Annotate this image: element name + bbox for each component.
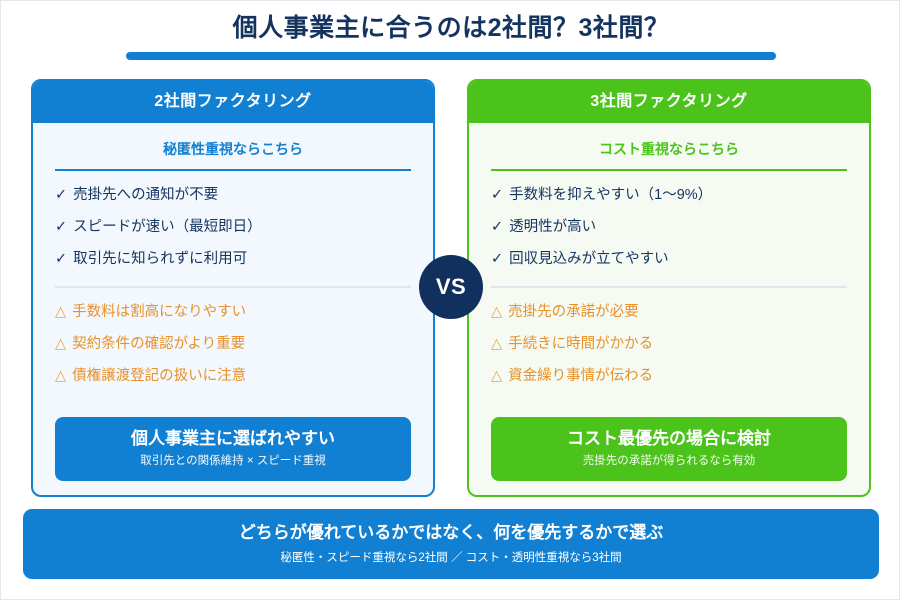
- conclusion-subtitle: 取引先との関係維持 × スピード重視: [65, 454, 401, 469]
- caution-triangle-icon: △: [55, 334, 66, 355]
- card-subtitle-three-party: コスト重視ならこちら: [491, 139, 847, 169]
- card-heading-three-party: 3社間ファクタリング: [469, 81, 869, 123]
- list-item-label: 売掛先の承諾が必要: [508, 302, 639, 323]
- list-item-label: 手続きに時間がかかる: [508, 334, 653, 355]
- list-item-label: 手数料を抑えやすい（1〜9%）: [509, 185, 712, 206]
- summary-subtitle: 秘匿性・スピード重視なら2社間 ／ コスト・透明性重視なら3社間: [23, 551, 879, 566]
- check-icon: ✓: [55, 185, 67, 206]
- cons-list-three-party: △ 売掛先の承諾が必要 △ 手続きに時間がかかる △ 資金繰り事情が伝わる: [491, 302, 847, 398]
- list-item-label: 資金繰り事情が伝わる: [508, 366, 653, 387]
- list-item: △ 手数料は割高になりやすい: [55, 302, 411, 323]
- list-item-label: 契約条件の確認がより重要: [72, 334, 245, 355]
- pros-cons-divider: [491, 286, 847, 288]
- check-icon: ✓: [491, 217, 503, 238]
- list-item-label: 取引先に知られずに利用可: [73, 249, 247, 270]
- list-item: △ 資金繰り事情が伝わる: [491, 366, 847, 387]
- vs-badge: VS: [419, 255, 483, 319]
- list-item: △ 債権譲渡登記の扱いに注意: [55, 366, 411, 387]
- summary-banner: どちらが優れているかではなく、何を優先するかで選ぶ 秘匿性・スピード重視なら2社…: [23, 509, 879, 579]
- caution-triangle-icon: △: [491, 366, 502, 387]
- card-heading-two-party: 2社間ファクタリング: [33, 81, 433, 123]
- list-item-label: 回収見込みが立てやすい: [509, 249, 669, 270]
- list-item: △ 契約条件の確認がより重要: [55, 334, 411, 355]
- conclusion-box-two-party: 個人事業主に選ばれやすい 取引先との関係維持 × スピード重視: [55, 417, 411, 481]
- title-underline: [126, 52, 776, 60]
- conclusion-box-three-party: コスト最優先の場合に検討 売掛先の承諾が得られるなら有効: [491, 417, 847, 481]
- list-item-label: スピードが速い（最短即日）: [73, 217, 262, 238]
- pros-cons-divider: [55, 286, 411, 288]
- page-header: 個人事業主に合うのは2社間？3社間？: [1, 13, 900, 60]
- caution-triangle-icon: △: [491, 302, 502, 323]
- pros-list-three-party: ✓ 手数料を抑えやすい（1〜9%） ✓ 透明性が高い ✓ 回収見込みが立てやすい: [491, 185, 847, 281]
- subtitle-divider: [55, 169, 411, 171]
- pros-list-two-party: ✓ 売掛先への通知が不要 ✓ スピードが速い（最短即日） ✓ 取引先に知られずに…: [55, 185, 411, 281]
- list-item: △ 手続きに時間がかかる: [491, 334, 847, 355]
- subtitle-divider: [491, 169, 847, 171]
- list-item-label: 透明性が高い: [509, 217, 596, 238]
- page-title: 個人事業主に合うのは2社間？3社間？: [1, 13, 900, 43]
- caution-triangle-icon: △: [55, 302, 66, 323]
- list-item: △ 売掛先の承諾が必要: [491, 302, 847, 323]
- summary-title: どちらが優れているかではなく、何を優先するかで選ぶ: [23, 522, 879, 544]
- conclusion-title: 個人事業主に選ばれやすい: [65, 428, 401, 449]
- infographic-page: 個人事業主に合うのは2社間？3社間？ 2社間ファクタリング 秘匿性重視ならこちら…: [0, 0, 900, 600]
- check-icon: ✓: [55, 217, 67, 238]
- check-icon: ✓: [491, 185, 503, 206]
- comparison-card-two-party: 2社間ファクタリング 秘匿性重視ならこちら ✓ 売掛先への通知が不要 ✓ スピー…: [31, 79, 435, 497]
- card-body-three-party: コスト重視ならこちら ✓ 手数料を抑えやすい（1〜9%） ✓ 透明性が高い ✓ …: [469, 123, 869, 495]
- caution-triangle-icon: △: [55, 366, 66, 387]
- conclusion-title: コスト最優先の場合に検討: [501, 428, 837, 449]
- card-body-two-party: 秘匿性重視ならこちら ✓ 売掛先への通知が不要 ✓ スピードが速い（最短即日） …: [33, 123, 433, 495]
- check-icon: ✓: [491, 249, 503, 270]
- comparison-card-three-party: 3社間ファクタリング コスト重視ならこちら ✓ 手数料を抑えやすい（1〜9%） …: [467, 79, 871, 497]
- conclusion-subtitle: 売掛先の承諾が得られるなら有効: [501, 454, 837, 469]
- list-item-label: 売掛先への通知が不要: [73, 185, 218, 206]
- card-subtitle-two-party: 秘匿性重視ならこちら: [55, 139, 411, 169]
- list-item: ✓ 取引先に知られずに利用可: [55, 249, 411, 270]
- list-item: ✓ 手数料を抑えやすい（1〜9%）: [491, 185, 847, 206]
- list-item: ✓ スピードが速い（最短即日）: [55, 217, 411, 238]
- check-icon: ✓: [55, 249, 67, 270]
- list-item-label: 債権譲渡登記の扱いに注意: [72, 366, 246, 387]
- caution-triangle-icon: △: [491, 334, 502, 355]
- cons-list-two-party: △ 手数料は割高になりやすい △ 契約条件の確認がより重要 △ 債権譲渡登記の扱…: [55, 302, 411, 398]
- list-item: ✓ 透明性が高い: [491, 217, 847, 238]
- list-item: ✓ 売掛先への通知が不要: [55, 185, 411, 206]
- list-item-label: 手数料は割高になりやすい: [72, 302, 246, 323]
- list-item: ✓ 回収見込みが立てやすい: [491, 249, 847, 270]
